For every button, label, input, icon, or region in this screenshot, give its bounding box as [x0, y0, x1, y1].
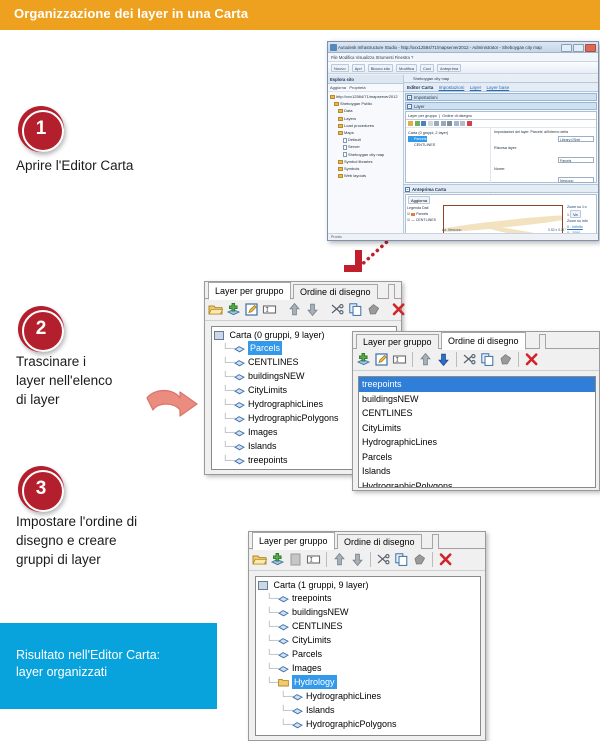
tree-item[interactable]: └─treepoints — [256, 591, 480, 605]
toolbar-btn-cuci[interactable]: Cuci — [420, 64, 434, 72]
tree-item-label: Islands — [248, 439, 277, 453]
tree-item-label: CENTLINES — [292, 619, 343, 633]
window-controls[interactable] — [561, 44, 596, 52]
toolbar-separator — [412, 352, 413, 367]
tree-item-label: CityLimits — [292, 633, 331, 647]
svg-text:I: I — [395, 357, 399, 364]
site-explorer-tabs[interactable]: Aggiorna Proprietà — [328, 84, 403, 92]
move-up-icon[interactable] — [332, 552, 347, 567]
app-statusbar: Pronto — [328, 233, 598, 240]
tab-overflow[interactable] — [432, 534, 439, 549]
tree-item[interactable]: └─Hydrology — [256, 675, 480, 689]
tree-root-label: Carta (0 gruppi, 9 layer) — [230, 328, 325, 342]
step-badge-3: 3 — [18, 466, 64, 512]
tab-ordine-di-disegno[interactable]: Ordine di disegno — [441, 332, 526, 350]
cut-icon[interactable] — [330, 302, 345, 317]
edit-layer-icon[interactable] — [374, 352, 389, 367]
refresh-button[interactable]: Aggiorna — [408, 196, 430, 204]
toolbar-separator — [456, 352, 457, 367]
new-group-icon[interactable] — [288, 552, 303, 567]
layer-items[interactable]: └─treepoints└─buildingsNEW└─CENTLINES└─C… — [256, 591, 480, 731]
tree-item[interactable]: └─Images — [256, 661, 480, 675]
page-title: Organizzazione dei layer in una Carta — [14, 6, 248, 21]
edit-layer-icon[interactable] — [421, 121, 426, 126]
page-icon — [343, 152, 347, 157]
tree-item-label: Hydrology — [292, 675, 337, 689]
map-editor-title: Editor Carta — [407, 85, 433, 90]
zoom-go-button[interactable]: Va — [570, 210, 581, 218]
tree-item[interactable]: └─CityLimits — [256, 633, 480, 647]
tree-item-label: Images — [292, 661, 322, 675]
prop-label-risorsa: Risorsa layer: — [494, 146, 517, 150]
app-toolbar[interactable]: Nuovo Apri Blocco sito Modifica Cuci Ant… — [328, 62, 598, 74]
explorer-tab-proprieta[interactable]: Proprietà — [349, 85, 365, 90]
minipanel-tree-item[interactable]: CENTLINES — [408, 142, 488, 148]
prop-value-nome[interactable]: Parcels — [558, 157, 594, 163]
list-item[interactable]: Islands — [359, 464, 595, 479]
tree-item[interactable]: └─HydrographicLines — [256, 689, 480, 703]
app-titlebar: Autodesk Infrastructure Studio - http://… — [328, 42, 598, 53]
paste-icon[interactable] — [498, 352, 513, 367]
move-down-icon[interactable] — [350, 552, 365, 567]
move-down-icon[interactable] — [441, 121, 446, 126]
tree-item[interactable]: └─Islands — [256, 703, 480, 717]
tab-overflow[interactable] — [388, 284, 395, 299]
svg-text:I: I — [265, 307, 269, 314]
add-layer-icon[interactable] — [415, 121, 420, 126]
move-up-icon[interactable] — [418, 352, 433, 367]
tree-item-label: treepoints — [248, 453, 288, 467]
map-icon — [258, 581, 268, 590]
section-layer[interactable]: − Layer — [405, 102, 597, 110]
site-explorer-tree[interactable]: http://xxx12584/71/mapserver2012 Sheboyg… — [328, 92, 403, 180]
step-number-2: 2 — [18, 306, 64, 352]
page-icon — [343, 138, 347, 143]
section-layer-label: Layer — [414, 104, 424, 109]
step-text-3: Impostare l'ordine di disegno e creare g… — [16, 512, 137, 569]
panel-tabstrip: Layer per gruppo Ordine di disegno — [353, 332, 599, 349]
page-header: Organizzazione dei layer in una Carta — [0, 0, 600, 30]
move-up-icon[interactable] — [434, 121, 439, 126]
tab-layer-per-gruppo[interactable]: Layer per gruppo — [356, 334, 439, 349]
open-folder-icon[interactable] — [408, 121, 413, 126]
tab-layer-per-gruppo[interactable]: Layer per gruppo — [252, 532, 335, 550]
step-number-3: 3 — [18, 466, 64, 512]
move-up-icon[interactable] — [287, 302, 302, 317]
layer-editor-minipanel: Layer per gruppo | Ordine di disegno — [405, 111, 597, 183]
prop-value-risorsa[interactable]: Library://Shet — [558, 136, 594, 142]
rename-icon[interactable]: I — [306, 552, 321, 567]
app-icon — [330, 44, 337, 51]
tree-node[interactable]: Load procedures — [330, 122, 402, 129]
panel-tabstrip: Layer per gruppo Ordine di disegno — [249, 532, 485, 549]
toolbar-separator — [518, 352, 519, 367]
list-item[interactable]: CENTLINES — [359, 406, 595, 421]
preview-title: Anteprima Carta — [412, 187, 446, 192]
tree-item-label: treepoints — [292, 591, 332, 605]
cut-icon[interactable] — [447, 121, 452, 126]
tree-root-label: Carta (1 gruppi, 9 layer) — [274, 578, 369, 592]
folder-icon — [338, 174, 343, 178]
collapse-icon[interactable]: − — [407, 104, 412, 109]
list-item[interactable]: Parcels — [359, 450, 595, 465]
delete-icon[interactable] — [467, 121, 472, 126]
legend-tab-dati[interactable]: Dati — [422, 206, 428, 210]
tree-root[interactable]: http://xxx12584/71/mapserver2012 — [330, 93, 402, 100]
tree-item-label: HydrographicLines — [248, 397, 323, 411]
layer-tree[interactable]: Carta (1 gruppi, 9 layer) └─treepoints└─… — [255, 576, 481, 736]
list-item[interactable]: treepoints — [359, 377, 595, 392]
tree-node[interactable]: Sheboygan Public — [330, 100, 402, 107]
tree-item-label: Parcels — [248, 341, 282, 355]
tree-node[interactable]: Sheboygan city map — [330, 151, 402, 158]
section-impostazioni-label: Impostazioni — [414, 95, 438, 100]
open-folder-icon[interactable] — [208, 302, 223, 317]
minimize-icon[interactable] — [561, 44, 572, 52]
prop-label-nome: Nome: — [494, 167, 505, 171]
move-down-icon[interactable] — [436, 352, 451, 367]
result-callout: Risultato nell'Editor Carta: layer organ… — [0, 623, 217, 709]
tab-ordine-di-disegno[interactable]: Ordine di disegno — [293, 284, 378, 299]
zoom-in-value[interactable]: 1 — [567, 213, 569, 217]
toolbar-btn-blocco[interactable]: Blocco sito — [368, 64, 393, 72]
map-icon — [214, 331, 224, 340]
tree-root-row: Carta (1 gruppi, 9 layer) — [256, 577, 480, 591]
tree-item-label: HydrographicPolygons — [248, 411, 339, 425]
page-icon — [343, 145, 347, 150]
step-text-2: Trascinare i layer nell'elenco di layer — [16, 352, 112, 409]
toolbar-btn-apri[interactable]: Apri — [352, 64, 365, 72]
copy-icon[interactable] — [348, 302, 363, 317]
folder-icon — [338, 124, 343, 128]
tree-item-label: buildingsNEW — [248, 369, 305, 383]
draw-order-list[interactable]: treepointsbuildingsNEWCENTLINESCityLimit… — [358, 376, 596, 488]
toolbar-separator — [370, 552, 371, 567]
folder-icon — [338, 117, 343, 121]
legend-item[interactable]: ☑ — CENTLINES — [407, 217, 441, 223]
toolbar-btn-modifica[interactable]: Modifica — [396, 64, 417, 72]
add-layer-icon[interactable] — [226, 302, 241, 317]
add-layer-icon[interactable] — [270, 552, 285, 567]
tree-item-label: buildingsNEW — [292, 605, 349, 619]
editor-link-layer[interactable]: Layer — [470, 85, 482, 90]
open-folder-icon[interactable] — [252, 552, 267, 567]
paste-icon[interactable] — [412, 552, 427, 567]
minipanel-tab-gruppo[interactable]: Layer per gruppo — [408, 114, 437, 118]
minipanel-tab-ordine[interactable]: Ordine di disegno — [442, 114, 472, 118]
tree-item[interactable]: └─HydrographicPolygons — [256, 717, 480, 731]
move-down-icon[interactable] — [305, 302, 320, 317]
cut-icon[interactable] — [462, 352, 477, 367]
cut-icon[interactable] — [376, 552, 391, 567]
layer-props-title: Impostazioni del layer 'Parcels' all'int… — [494, 130, 594, 134]
legend-swatch — [411, 213, 415, 216]
folder-icon — [338, 131, 343, 135]
folder-icon — [338, 160, 343, 164]
list-item[interactable]: HydrographicPolygons — [359, 479, 595, 489]
svg-text:I: I — [309, 557, 313, 564]
folder-icon — [330, 95, 335, 99]
map-coords: 0.52 x 0.01" — [548, 228, 566, 232]
copy-icon[interactable] — [454, 121, 459, 126]
map-legend[interactable]: Legenda Dati ☑ Parcels ☑ — CENTLINES — [407, 205, 441, 223]
tree-item-label: CityLimits — [248, 383, 287, 397]
tree-node[interactable]: Layers — [330, 115, 402, 122]
maximize-icon[interactable] — [573, 44, 584, 52]
tree-node[interactable]: Web layouts — [330, 172, 402, 179]
delete-icon[interactable] — [438, 552, 453, 567]
app-screenshot: Autodesk Infrastructure Studio - http://… — [327, 41, 599, 241]
toolbar-btn-anteprima[interactable]: Anteprima — [437, 64, 461, 72]
layer-group-result-panel: Layer per gruppo Ordine di disegno I — [248, 531, 486, 741]
step-text-1: Aprire l'Editor Carta — [16, 156, 133, 175]
preview-section-header[interactable]: − Anteprima Carta — [404, 184, 598, 193]
app-title-text: Autodesk Infrastructure Studio - http://… — [338, 45, 542, 50]
draw-order-panel: Layer per gruppo Ordine di disegno I — [352, 331, 600, 491]
tree-node[interactable]: Server — [330, 143, 402, 150]
tree-item[interactable]: └─CENTLINES — [256, 619, 480, 633]
editor-link-impostazioni[interactable]: Impostazioni — [439, 85, 465, 90]
rename-icon[interactable] — [428, 121, 433, 126]
app-body: Esplora sito Aggiorna Proprietà http://x… — [328, 75, 598, 240]
panel-toolbar[interactable]: I — [249, 549, 485, 571]
delete-icon[interactable] — [391, 302, 406, 317]
tree-item-label: Parcels — [292, 647, 322, 661]
tab-layer-per-gruppo[interactable]: Layer per gruppo — [208, 282, 291, 300]
copy-icon[interactable] — [394, 552, 409, 567]
map-editor-header: Editor Carta Impostazioni Layer Layer ba… — [404, 83, 598, 92]
list-item[interactable]: buildingsNEW — [359, 392, 595, 407]
paste-icon[interactable] — [460, 121, 465, 126]
panel-toolbar[interactable]: I — [353, 349, 599, 371]
tree-item[interactable]: └─buildingsNEW — [256, 605, 480, 619]
tree-item-label: HydrographicPolygons — [306, 717, 397, 731]
minipanel-toolbar[interactable] — [406, 120, 596, 128]
toolbar-separator — [326, 552, 327, 567]
editor-link-layerbase[interactable]: Layer base — [486, 85, 509, 90]
expand-icon[interactable]: + — [407, 95, 412, 100]
tree-node[interactable]: Symbols — [330, 165, 402, 172]
step-badge-1: 1 — [18, 106, 64, 152]
step-badge-2: 2 — [18, 306, 64, 352]
app-menubar[interactable]: File Modifica Visualizza Strumenti Fines… — [328, 53, 598, 62]
result-text: Risultato nell'Editor Carta: layer organ… — [16, 647, 160, 681]
add-layer-icon[interactable] — [356, 352, 371, 367]
prop-value-gruppo[interactable]: Nessuno — [558, 177, 594, 183]
toolbar-separator — [432, 552, 433, 567]
tree-item[interactable]: └─Parcels — [256, 647, 480, 661]
section-impostazioni[interactable]: + Impostazioni — [405, 93, 597, 101]
draw-order-items[interactable]: treepointsbuildingsNEWCENTLINESCityLimit… — [359, 377, 595, 488]
panel-tabstrip: Layer per gruppo Ordine di disegno — [205, 282, 401, 299]
map-scale-label: Ad. Nessuno — [442, 228, 461, 232]
rename-icon[interactable]: I — [262, 302, 277, 317]
delete-icon[interactable] — [524, 352, 539, 367]
tree-item-label: Images — [248, 425, 278, 439]
step-number-1: 1 — [18, 106, 64, 152]
list-item[interactable]: CityLimits — [359, 421, 595, 436]
folder-icon — [338, 109, 343, 113]
list-item[interactable]: HydrographicLines — [359, 435, 595, 450]
explorer-tab-aggiorna[interactable]: Aggiorna — [330, 85, 346, 90]
folder-icon — [334, 102, 339, 106]
drag-arrow-icon — [144, 386, 200, 431]
document-tab[interactable]: Sheboygan city map — [404, 75, 598, 83]
tab-overflow[interactable] — [539, 334, 546, 349]
minipanel-tabs[interactable]: Layer per gruppo | Ordine di disegno — [406, 112, 596, 120]
tree-node[interactable]: Maps — [330, 129, 402, 136]
rename-icon[interactable]: I — [392, 352, 407, 367]
copy-icon[interactable] — [480, 352, 495, 367]
close-icon[interactable] — [585, 44, 596, 52]
collapse-icon[interactable]: − — [405, 187, 410, 192]
app-editor-pane: Sheboygan city map Editor Carta Impostaz… — [404, 75, 598, 240]
paste-icon[interactable] — [366, 302, 381, 317]
tree-item-label: CENTLINES — [248, 355, 299, 369]
tree-item-label: Islands — [306, 703, 335, 717]
tree-node[interactable]: Default — [330, 136, 402, 143]
toolbar-btn-nuovo[interactable]: Nuovo — [331, 64, 349, 72]
tree-node[interactable]: Data — [330, 107, 402, 114]
site-explorer-title: Esplora sito — [328, 75, 403, 84]
tree-item-label: HydrographicLines — [306, 689, 381, 703]
tree-node[interactable]: Symbol libraries — [330, 158, 402, 165]
panel-toolbar[interactable]: I — [205, 299, 401, 321]
edit-layer-icon[interactable] — [244, 302, 259, 317]
tab-ordine-di-disegno[interactable]: Ordine di disegno — [337, 534, 422, 549]
folder-icon — [338, 167, 343, 171]
site-explorer-pane: Esplora sito Aggiorna Proprietà http://x… — [328, 75, 404, 240]
legend-tab-legenda[interactable]: Legenda — [407, 206, 421, 210]
